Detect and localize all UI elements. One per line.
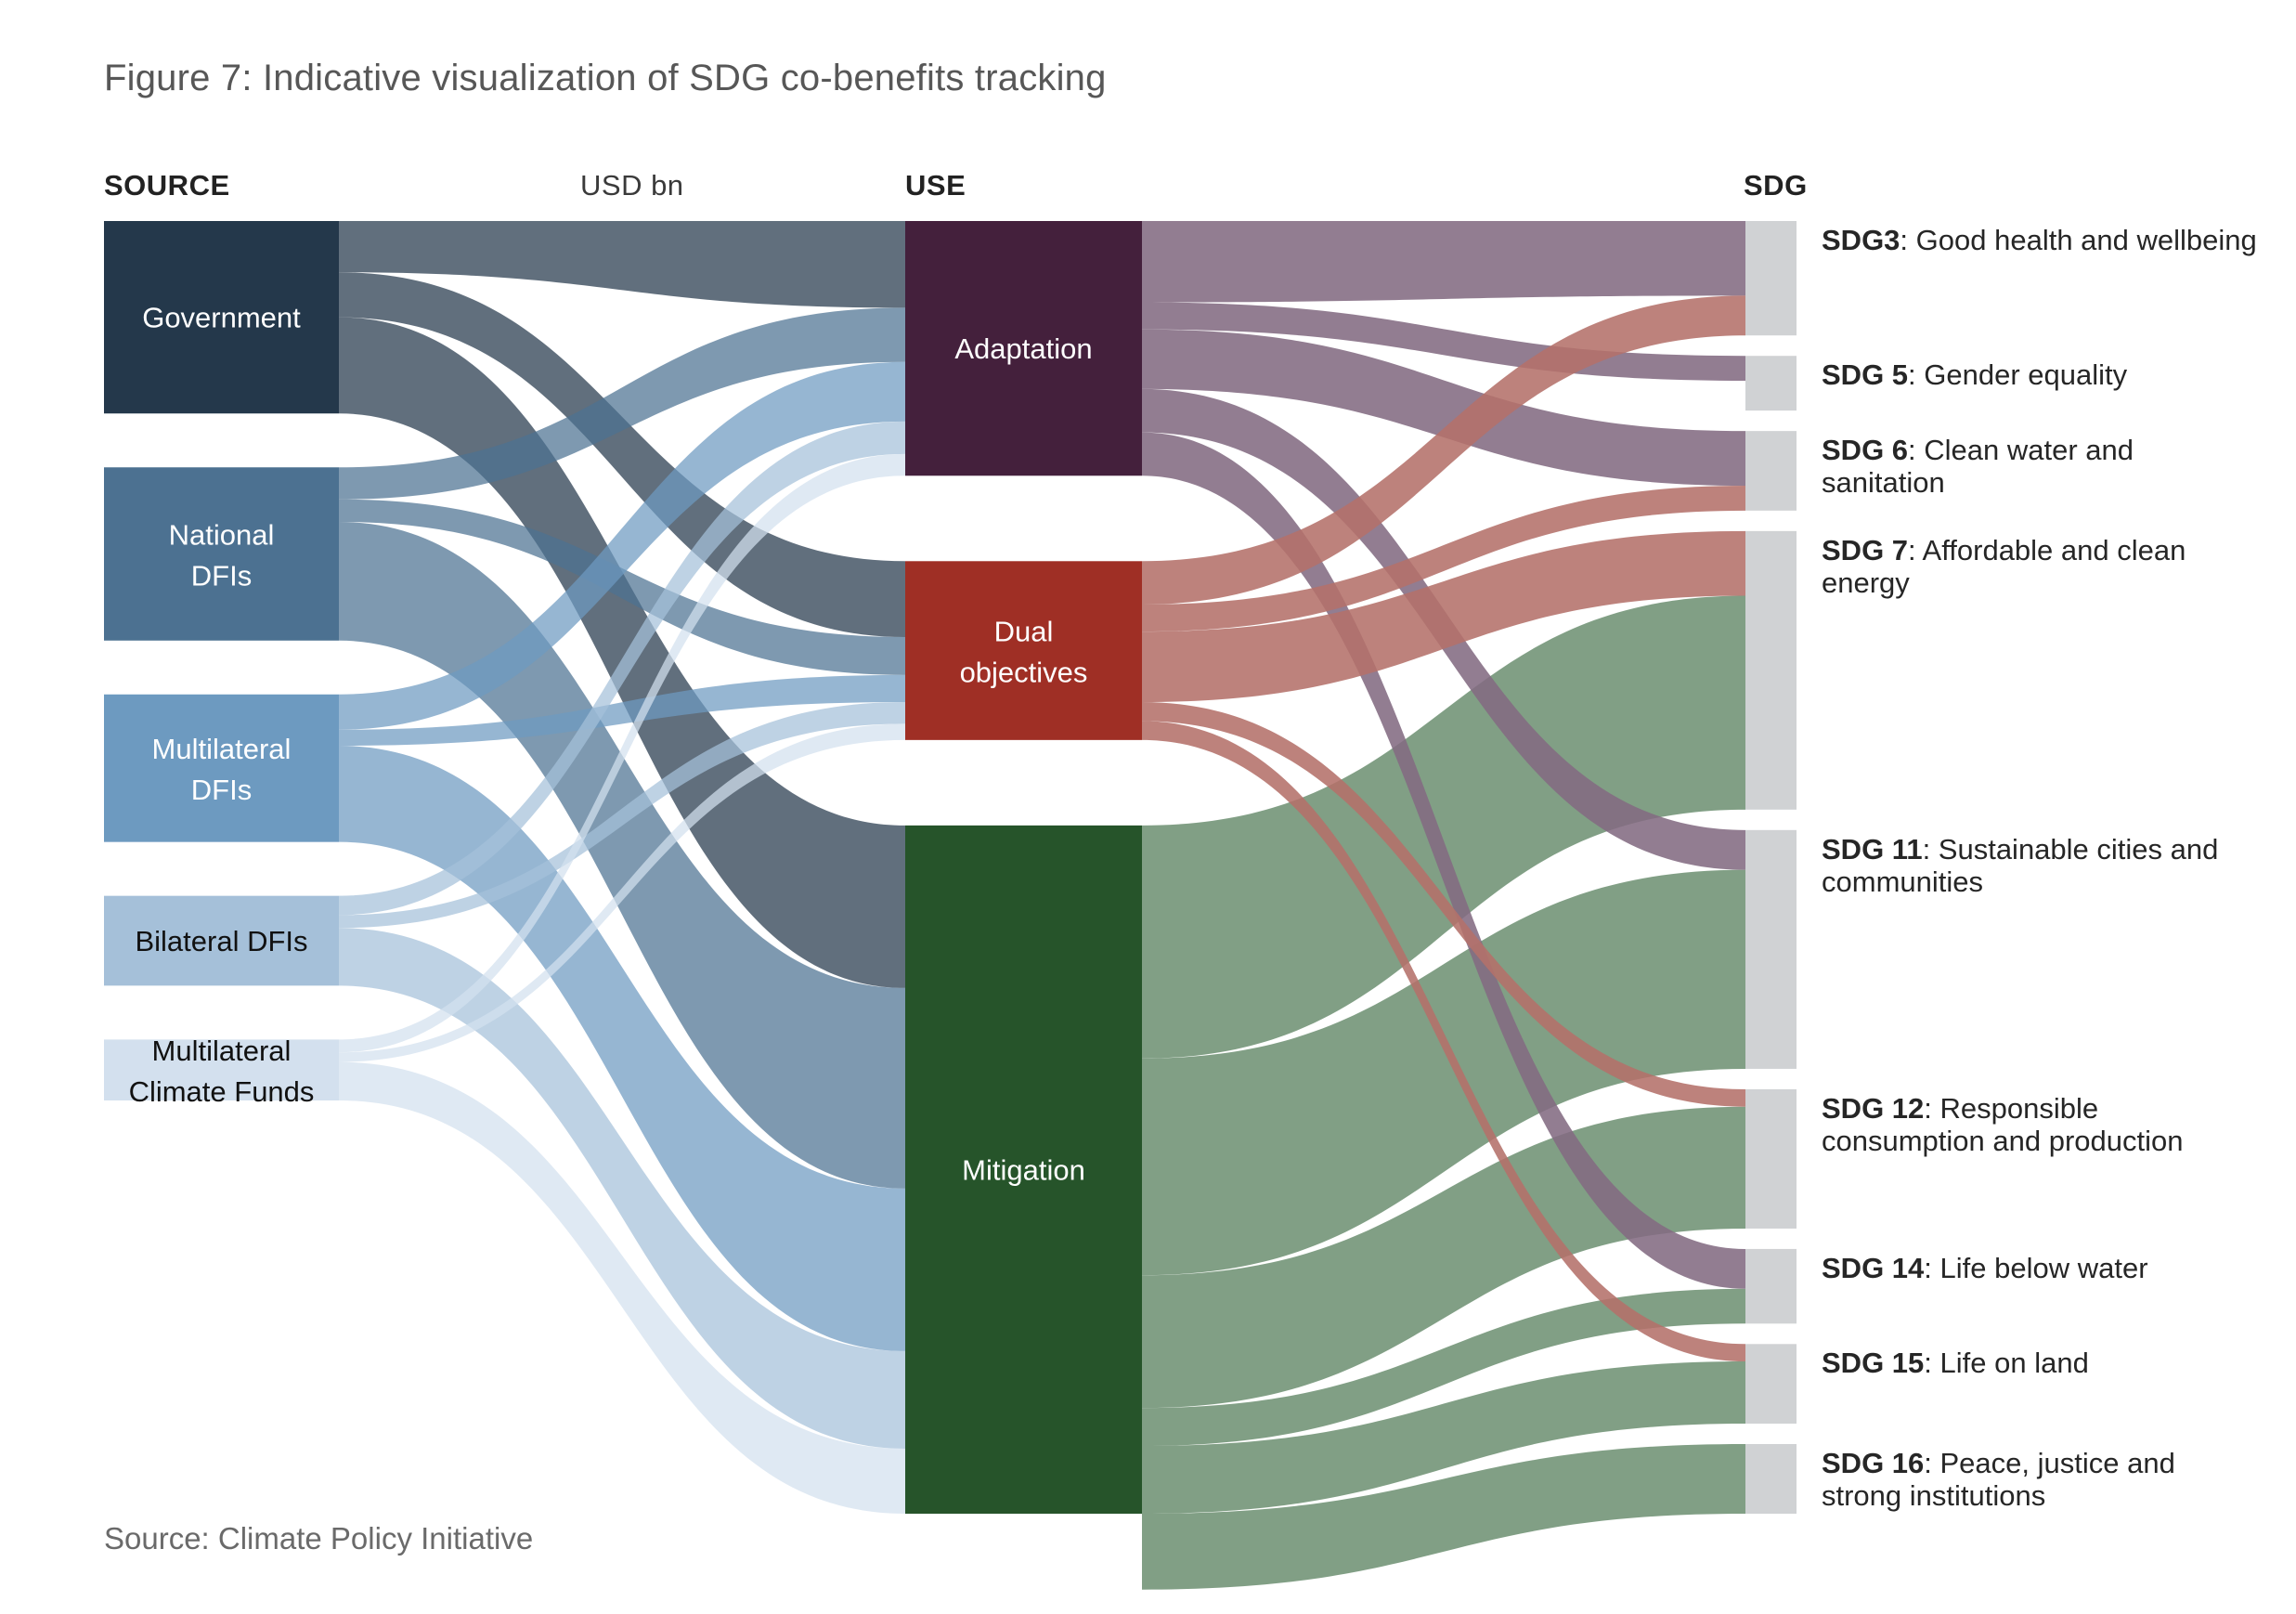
sdg-node-sdg5[interactable] <box>1745 356 1797 410</box>
sdg-label-sdg6: SDG 6: Clean water and sanitation <box>1822 435 2258 499</box>
sdg-node-sdg3[interactable] <box>1745 221 1797 335</box>
use-label-adaptation: Adaptation <box>954 332 1092 365</box>
source-node-multilateral_dfis[interactable] <box>104 695 339 842</box>
sdg-number-sdg16: SDG 16 <box>1822 1447 1924 1479</box>
sdg-node-sdg14[interactable] <box>1745 1249 1797 1323</box>
sdg-number-sdg14: SDG 14 <box>1822 1252 1924 1284</box>
source-label-multilateral_dfis: DFIs <box>191 774 252 806</box>
sdg-number-sdg12: SDG 12 <box>1822 1092 1924 1125</box>
source-note: Source: Climate Policy Initiative <box>104 1521 533 1556</box>
use-label-mitigation: Mitigation <box>962 1153 1085 1186</box>
sdg-name-sdg3: : Good health and wellbeing <box>1900 224 2256 256</box>
source-label-government: Government <box>142 302 301 334</box>
sankey-link-adaptation-to-sdg3 <box>1142 221 1745 303</box>
sdg-number-sdg6: SDG 6 <box>1822 434 1908 466</box>
source-label-national_dfis: National <box>169 519 275 552</box>
sdg-name-sdg5: : Gender equality <box>1908 358 2127 391</box>
use-node-dual_objectives[interactable] <box>905 561 1142 740</box>
source-label-multilateral_climate_funds: Multilateral <box>152 1035 292 1067</box>
sdg-label-sdg14: SDG 14: Life below water <box>1822 1253 2258 1285</box>
sdg-number-sdg15: SDG 15 <box>1822 1347 1924 1379</box>
source-label-multilateral_climate_funds: Climate Funds <box>129 1075 315 1108</box>
sdg-node-sdg15[interactable] <box>1745 1344 1797 1424</box>
source-label-multilateral_dfis: Multilateral <box>152 733 292 765</box>
sdg-label-sdg16: SDG 16: Peace, justice and strong instit… <box>1822 1448 2258 1512</box>
sdg-label-sdg7: SDG 7: Affordable and clean energy <box>1822 535 2258 599</box>
sdg-node-sdg7[interactable] <box>1745 531 1797 810</box>
sdg-label-sdg12: SDG 12: Responsible consumption and prod… <box>1822 1093 2258 1157</box>
sdg-label-sdg5: SDG 5: Gender equality <box>1822 359 2258 392</box>
sdg-name-sdg15: : Life on land <box>1924 1347 2089 1379</box>
sdg-number-sdg3: SDG3 <box>1822 224 1900 256</box>
sdg-label-sdg11: SDG 11: Sustainable cities and communiti… <box>1822 834 2258 898</box>
source-label-national_dfis: DFIs <box>191 560 252 592</box>
sdg-label-sdg15: SDG 15: Life on land <box>1822 1347 2258 1380</box>
links-use-to-sdg <box>1142 221 1745 1590</box>
sdg-number-sdg5: SDG 5 <box>1822 358 1908 391</box>
links-source-to-use <box>339 221 905 1514</box>
sdg-number-sdg7: SDG 7 <box>1822 534 1908 566</box>
source-label-bilateral_dfis: Bilateral DFIs <box>135 925 307 957</box>
use-label-dual_objectives: objectives <box>960 657 1088 689</box>
source-node-national_dfis[interactable] <box>104 467 339 641</box>
sdg-node-sdg11[interactable] <box>1745 830 1797 1069</box>
sdg-name-sdg14: : Life below water <box>1924 1252 2147 1284</box>
sdg-label-sdg3: SDG3: Good health and wellbeing <box>1822 225 2258 257</box>
use-label-dual_objectives: Dual <box>994 616 1054 648</box>
sdg-node-sdg16[interactable] <box>1745 1444 1797 1514</box>
sdg-node-sdg6[interactable] <box>1745 431 1797 511</box>
sdg-number-sdg11: SDG 11 <box>1822 833 1923 866</box>
sdg-node-sdg12[interactable] <box>1745 1089 1797 1229</box>
